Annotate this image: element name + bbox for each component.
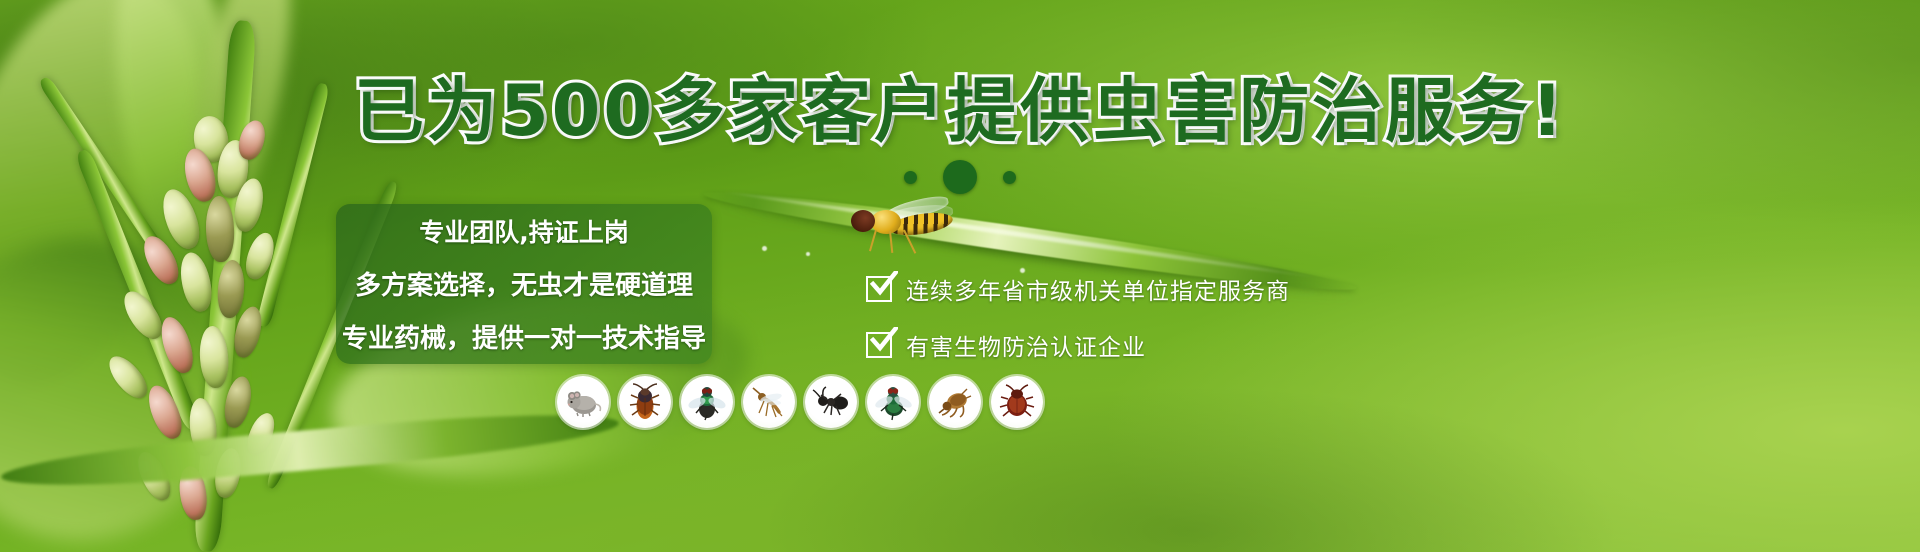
cockroach-icon: [619, 376, 671, 428]
selling-point-2: 多方案选择，无虫才是硬道理: [355, 265, 693, 302]
checkbox-checked-icon: [866, 276, 892, 302]
fly-leg: [889, 231, 893, 253]
decorative-dot-small: [1003, 171, 1016, 184]
checklist-item-label: 连续多年省市级机关单位指定服务商: [906, 272, 1290, 306]
decorative-dot-small: [904, 171, 917, 184]
checklist-item-label: 有害生物防治认证企业: [906, 328, 1146, 362]
ant-icon: [805, 376, 857, 428]
banner-headline-text: 已为500多家客户提供虫害防治服务!: [354, 70, 1566, 152]
mouse-icon: [557, 376, 609, 428]
checklist-item: 连续多年省市级机关单位指定服务商: [866, 272, 1290, 306]
checklist-item: 有害生物防治认证企业: [866, 328, 1290, 362]
selling-point-3: 专业药械，提供一对一技术指导: [342, 318, 706, 355]
credentials-checklist: 连续多年省市级机关单位指定服务商 有害生物防治认证企业: [866, 272, 1290, 362]
housefly-icon: [681, 376, 733, 428]
flea-icon: [929, 376, 981, 428]
pest-icon-strip: [557, 376, 1043, 428]
dew-drop: [806, 252, 810, 256]
fly-head: [851, 210, 875, 232]
bedbug-icon: [991, 376, 1043, 428]
fly-leg: [869, 230, 877, 252]
selling-points-panel: 专业团队,持证上岗 多方案选择，无虫才是硬道理 专业药械，提供一对一技术指导: [336, 204, 712, 364]
decorative-dot-group: [0, 160, 1920, 194]
banner-headline: 已为500多家客户提供虫害防治服务!: [0, 76, 1920, 146]
selling-point-1: 专业团队,持证上岗: [419, 213, 629, 249]
flower-bud: [103, 350, 154, 404]
hoverfly-photo: [845, 196, 965, 256]
mosquito-icon: [743, 376, 795, 428]
dew-drop: [762, 246, 767, 251]
checkbox-checked-icon: [866, 332, 892, 358]
promo-banner: 已为500多家客户提供虫害防治服务! 专业团队,持证上岗 多方案选择，无虫才是硬…: [0, 0, 1920, 552]
decorative-dot-large: [943, 160, 977, 194]
blowfly-icon: [867, 376, 919, 428]
